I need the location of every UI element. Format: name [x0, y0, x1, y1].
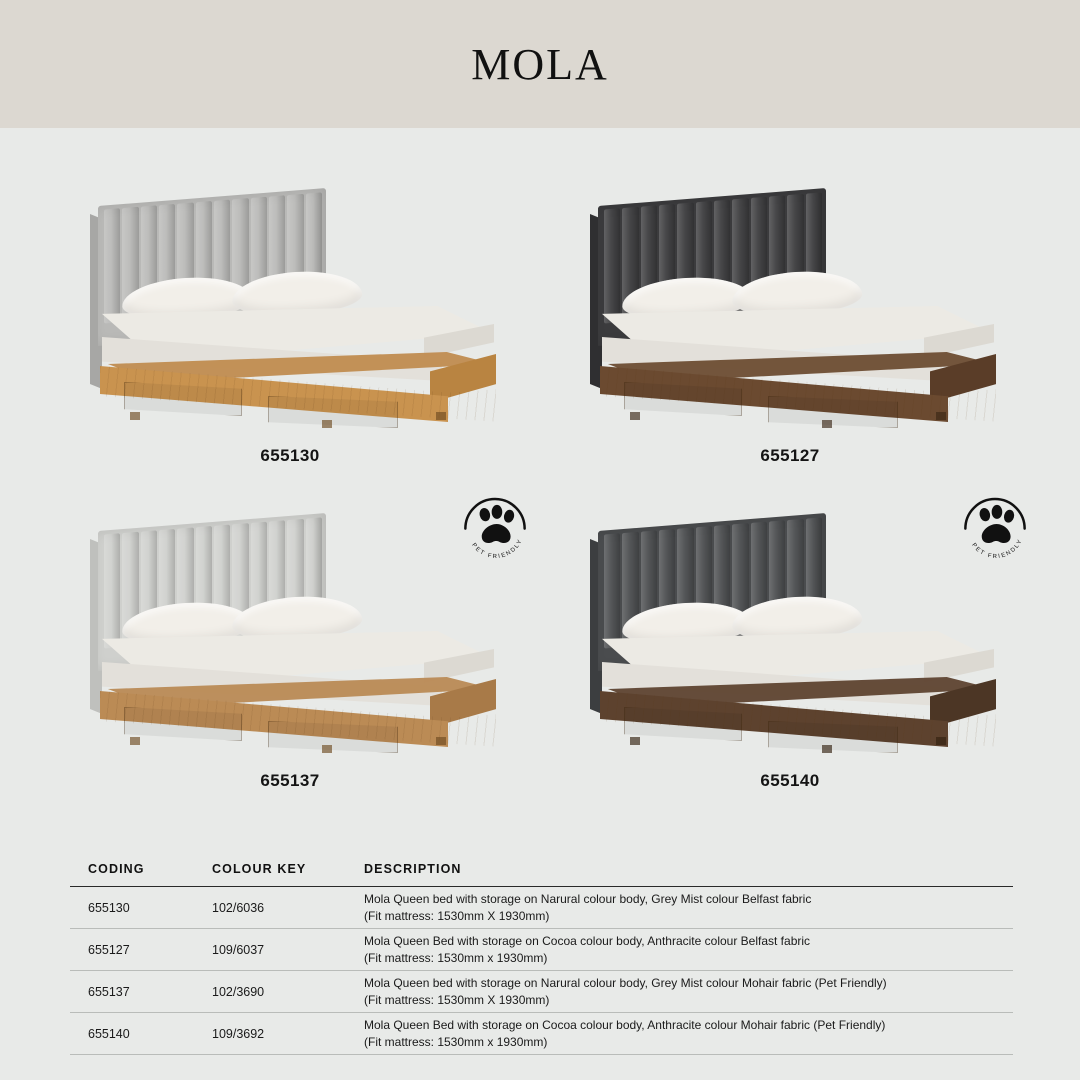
product-code-label: 655137 — [40, 771, 540, 791]
bed-image-655130 — [40, 158, 540, 438]
product-card[interactable]: PET FRIENDLY 655137 — [40, 483, 540, 823]
cell-coding: 655140 — [70, 1027, 212, 1041]
bed-foot — [822, 420, 832, 428]
cell-colour-key: 109/3692 — [212, 1027, 364, 1041]
mattress-size-text: (Fit mattress: 1530mm X 1930mm) — [364, 908, 1013, 925]
bed-foot — [130, 737, 140, 745]
cell-colour-key: 109/6037 — [212, 943, 364, 957]
product-card[interactable]: PET FRIENDLY 655140 — [540, 483, 1040, 823]
mattress-size-text: (Fit mattress: 1530mm X 1930mm) — [364, 992, 1013, 1009]
bed-foot — [936, 737, 946, 745]
cell-colour-key: 102/6036 — [212, 901, 364, 915]
svg-text:PET FRIENDLY: PET FRIENDLY — [970, 538, 1024, 560]
table-row: 655127 109/6037 Mola Queen Bed with stor… — [70, 929, 1013, 971]
product-card[interactable]: 655130 — [40, 158, 540, 498]
product-code-label: 655127 — [540, 446, 1040, 466]
table-row: 655137 102/3690 Mola Queen bed with stor… — [70, 971, 1013, 1013]
cell-description: Mola Queen bed with storage on Narural c… — [364, 891, 1013, 924]
svg-text:PET FRIENDLY: PET FRIENDLY — [470, 538, 524, 560]
specification-table: CODING COLOUR KEY DESCRIPTION 655130 102… — [70, 862, 1013, 1055]
pet-friendly-badge: PET FRIENDLY — [456, 485, 534, 563]
pet-friendly-label: PET FRIENDLY — [470, 538, 524, 560]
mattress-size-text: (Fit mattress: 1530mm x 1930mm) — [364, 1034, 1013, 1051]
bed-foot — [436, 412, 446, 420]
bed-illustration — [590, 531, 1000, 746]
product-card[interactable]: 655127 — [540, 158, 1040, 498]
column-header-coding: CODING — [70, 862, 212, 876]
cell-description: Mola Queen Bed with storage on Cocoa col… — [364, 1017, 1013, 1050]
cell-description: Mola Queen Bed with storage on Cocoa col… — [364, 933, 1013, 966]
bed-foot — [322, 420, 332, 428]
column-header-colour-key: COLOUR KEY — [212, 862, 364, 876]
bed-image-655127 — [540, 158, 1040, 438]
product-code-label: 655140 — [540, 771, 1040, 791]
bed-image-655137: PET FRIENDLY — [40, 483, 540, 763]
bed-foot — [936, 412, 946, 420]
cell-description: Mola Queen bed with storage on Narural c… — [364, 975, 1013, 1008]
cell-coding: 655127 — [70, 943, 212, 957]
bed-foot — [436, 737, 446, 745]
bed-illustration — [590, 206, 1000, 421]
mattress-size-text: (Fit mattress: 1530mm x 1930mm) — [364, 950, 1013, 967]
bed-foot — [130, 412, 140, 420]
table-row: 655140 109/3692 Mola Queen Bed with stor… — [70, 1013, 1013, 1055]
pet-friendly-badge: PET FRIENDLY — [956, 485, 1034, 563]
page-title: MOLA — [0, 0, 1080, 128]
column-header-description: DESCRIPTION — [364, 862, 1013, 876]
cell-colour-key: 102/3690 — [212, 985, 364, 999]
bed-image-655140: PET FRIENDLY — [540, 483, 1040, 763]
description-text: Mola Queen Bed with storage on Cocoa col… — [364, 934, 810, 948]
bed-foot — [630, 412, 640, 420]
table-header-row: CODING COLOUR KEY DESCRIPTION — [70, 862, 1013, 886]
cell-coding: 655137 — [70, 985, 212, 999]
description-text: Mola Queen Bed with storage on Cocoa col… — [364, 1018, 885, 1032]
bed-foot — [322, 745, 332, 753]
product-code-label: 655130 — [40, 446, 540, 466]
cell-coding: 655130 — [70, 901, 212, 915]
bed-illustration — [90, 531, 500, 746]
bed-illustration — [90, 206, 500, 421]
product-grid: 655130 — [0, 128, 1080, 828]
table-row: 655130 102/6036 Mola Queen bed with stor… — [70, 887, 1013, 929]
description-text: Mola Queen bed with storage on Narural c… — [364, 976, 887, 990]
pet-friendly-label: PET FRIENDLY — [970, 538, 1024, 560]
bed-foot — [630, 737, 640, 745]
bed-foot — [822, 745, 832, 753]
description-text: Mola Queen bed with storage on Narural c… — [364, 892, 811, 906]
